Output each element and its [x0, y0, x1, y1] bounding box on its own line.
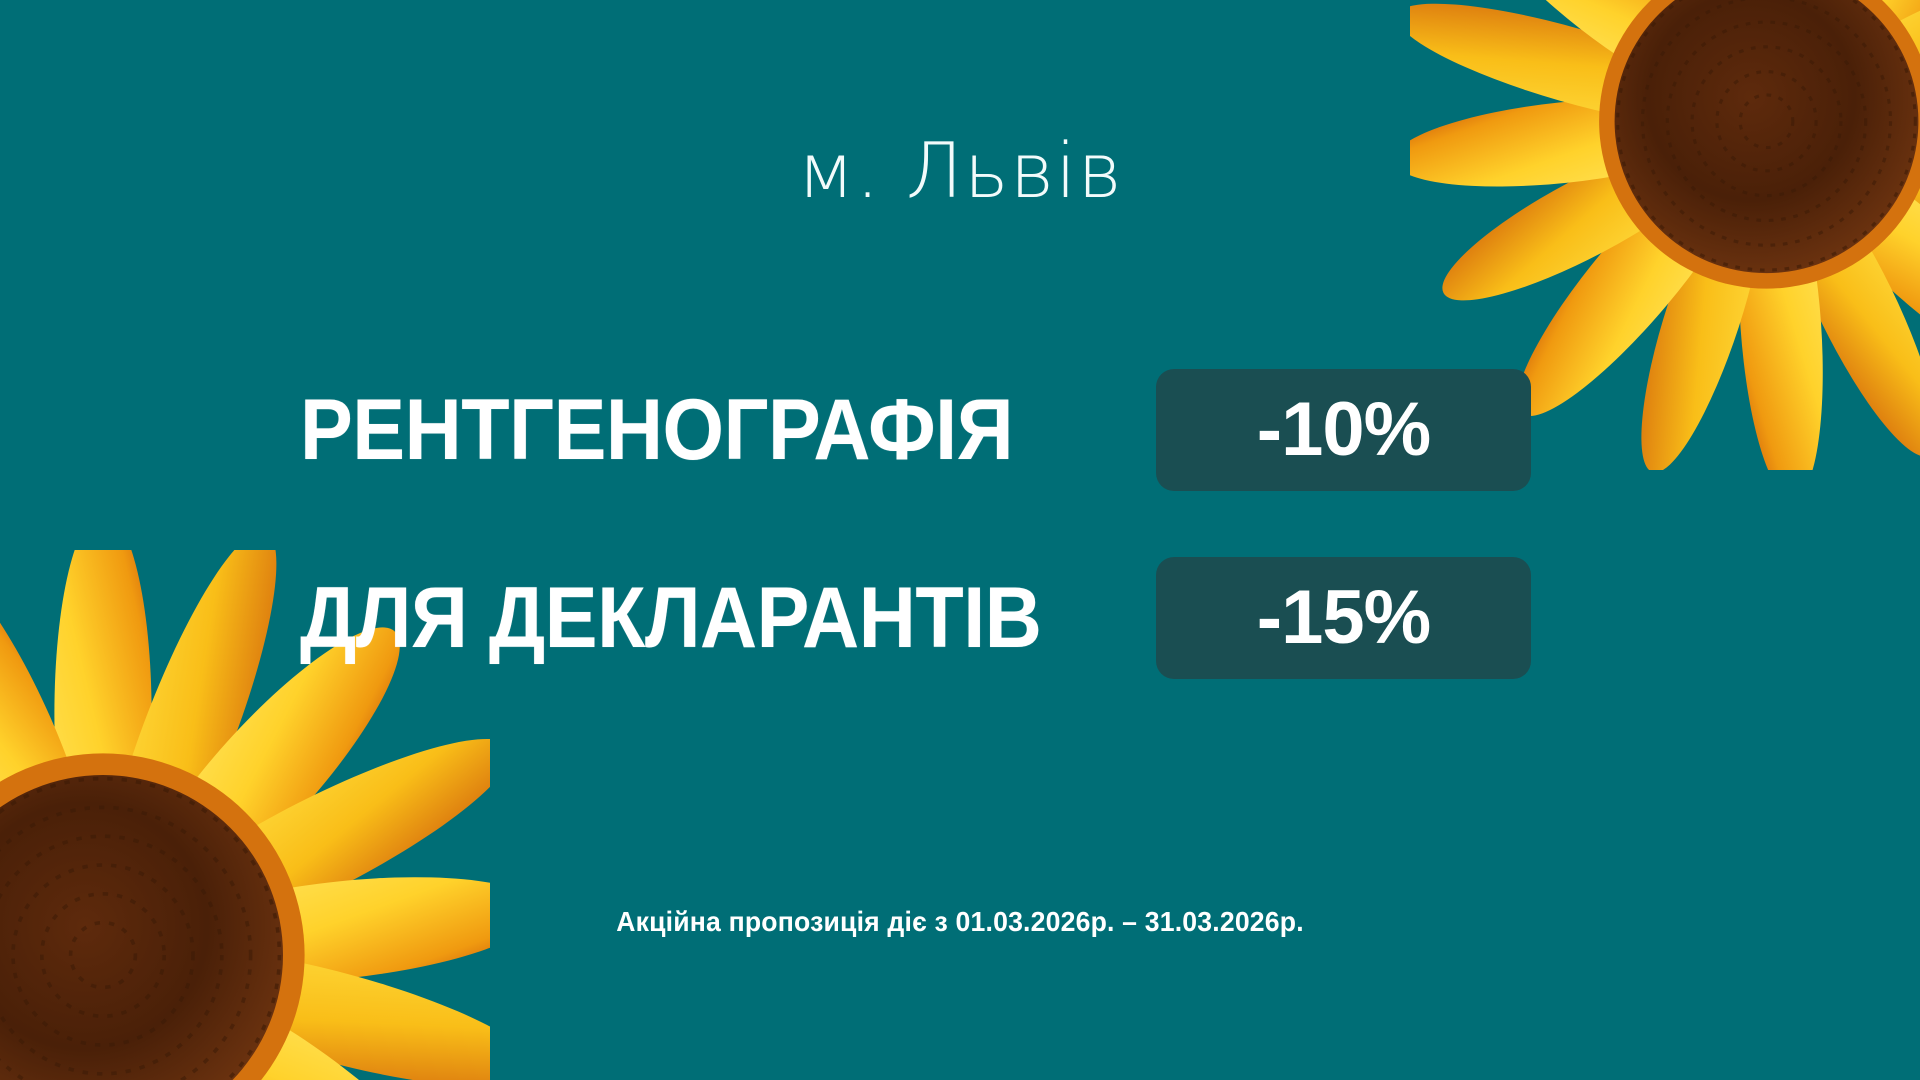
offer-row: РЕНТГЕНОГРАФІЯ -10%: [300, 365, 1580, 495]
offer-row: ДЛЯ ДЕКЛАРАНТІВ -15%: [300, 553, 1580, 683]
promo-banner: м. Львів РЕНТГЕНОГРАФІЯ -10% ДЛЯ ДЕКЛАРА…: [0, 0, 1920, 1080]
discount-badge: -10%: [1156, 369, 1531, 491]
discount-badge: -15%: [1156, 557, 1531, 679]
city-title: м. Львів: [0, 133, 1920, 209]
offer-service-label: РЕНТГЕНОГРАФІЯ: [300, 387, 1091, 473]
promo-period-text: Акційна пропозиція діє з 01.03.2026р. – …: [48, 908, 1872, 936]
offer-service-label: ДЛЯ ДЕКЛАРАНТІВ: [300, 575, 1091, 661]
